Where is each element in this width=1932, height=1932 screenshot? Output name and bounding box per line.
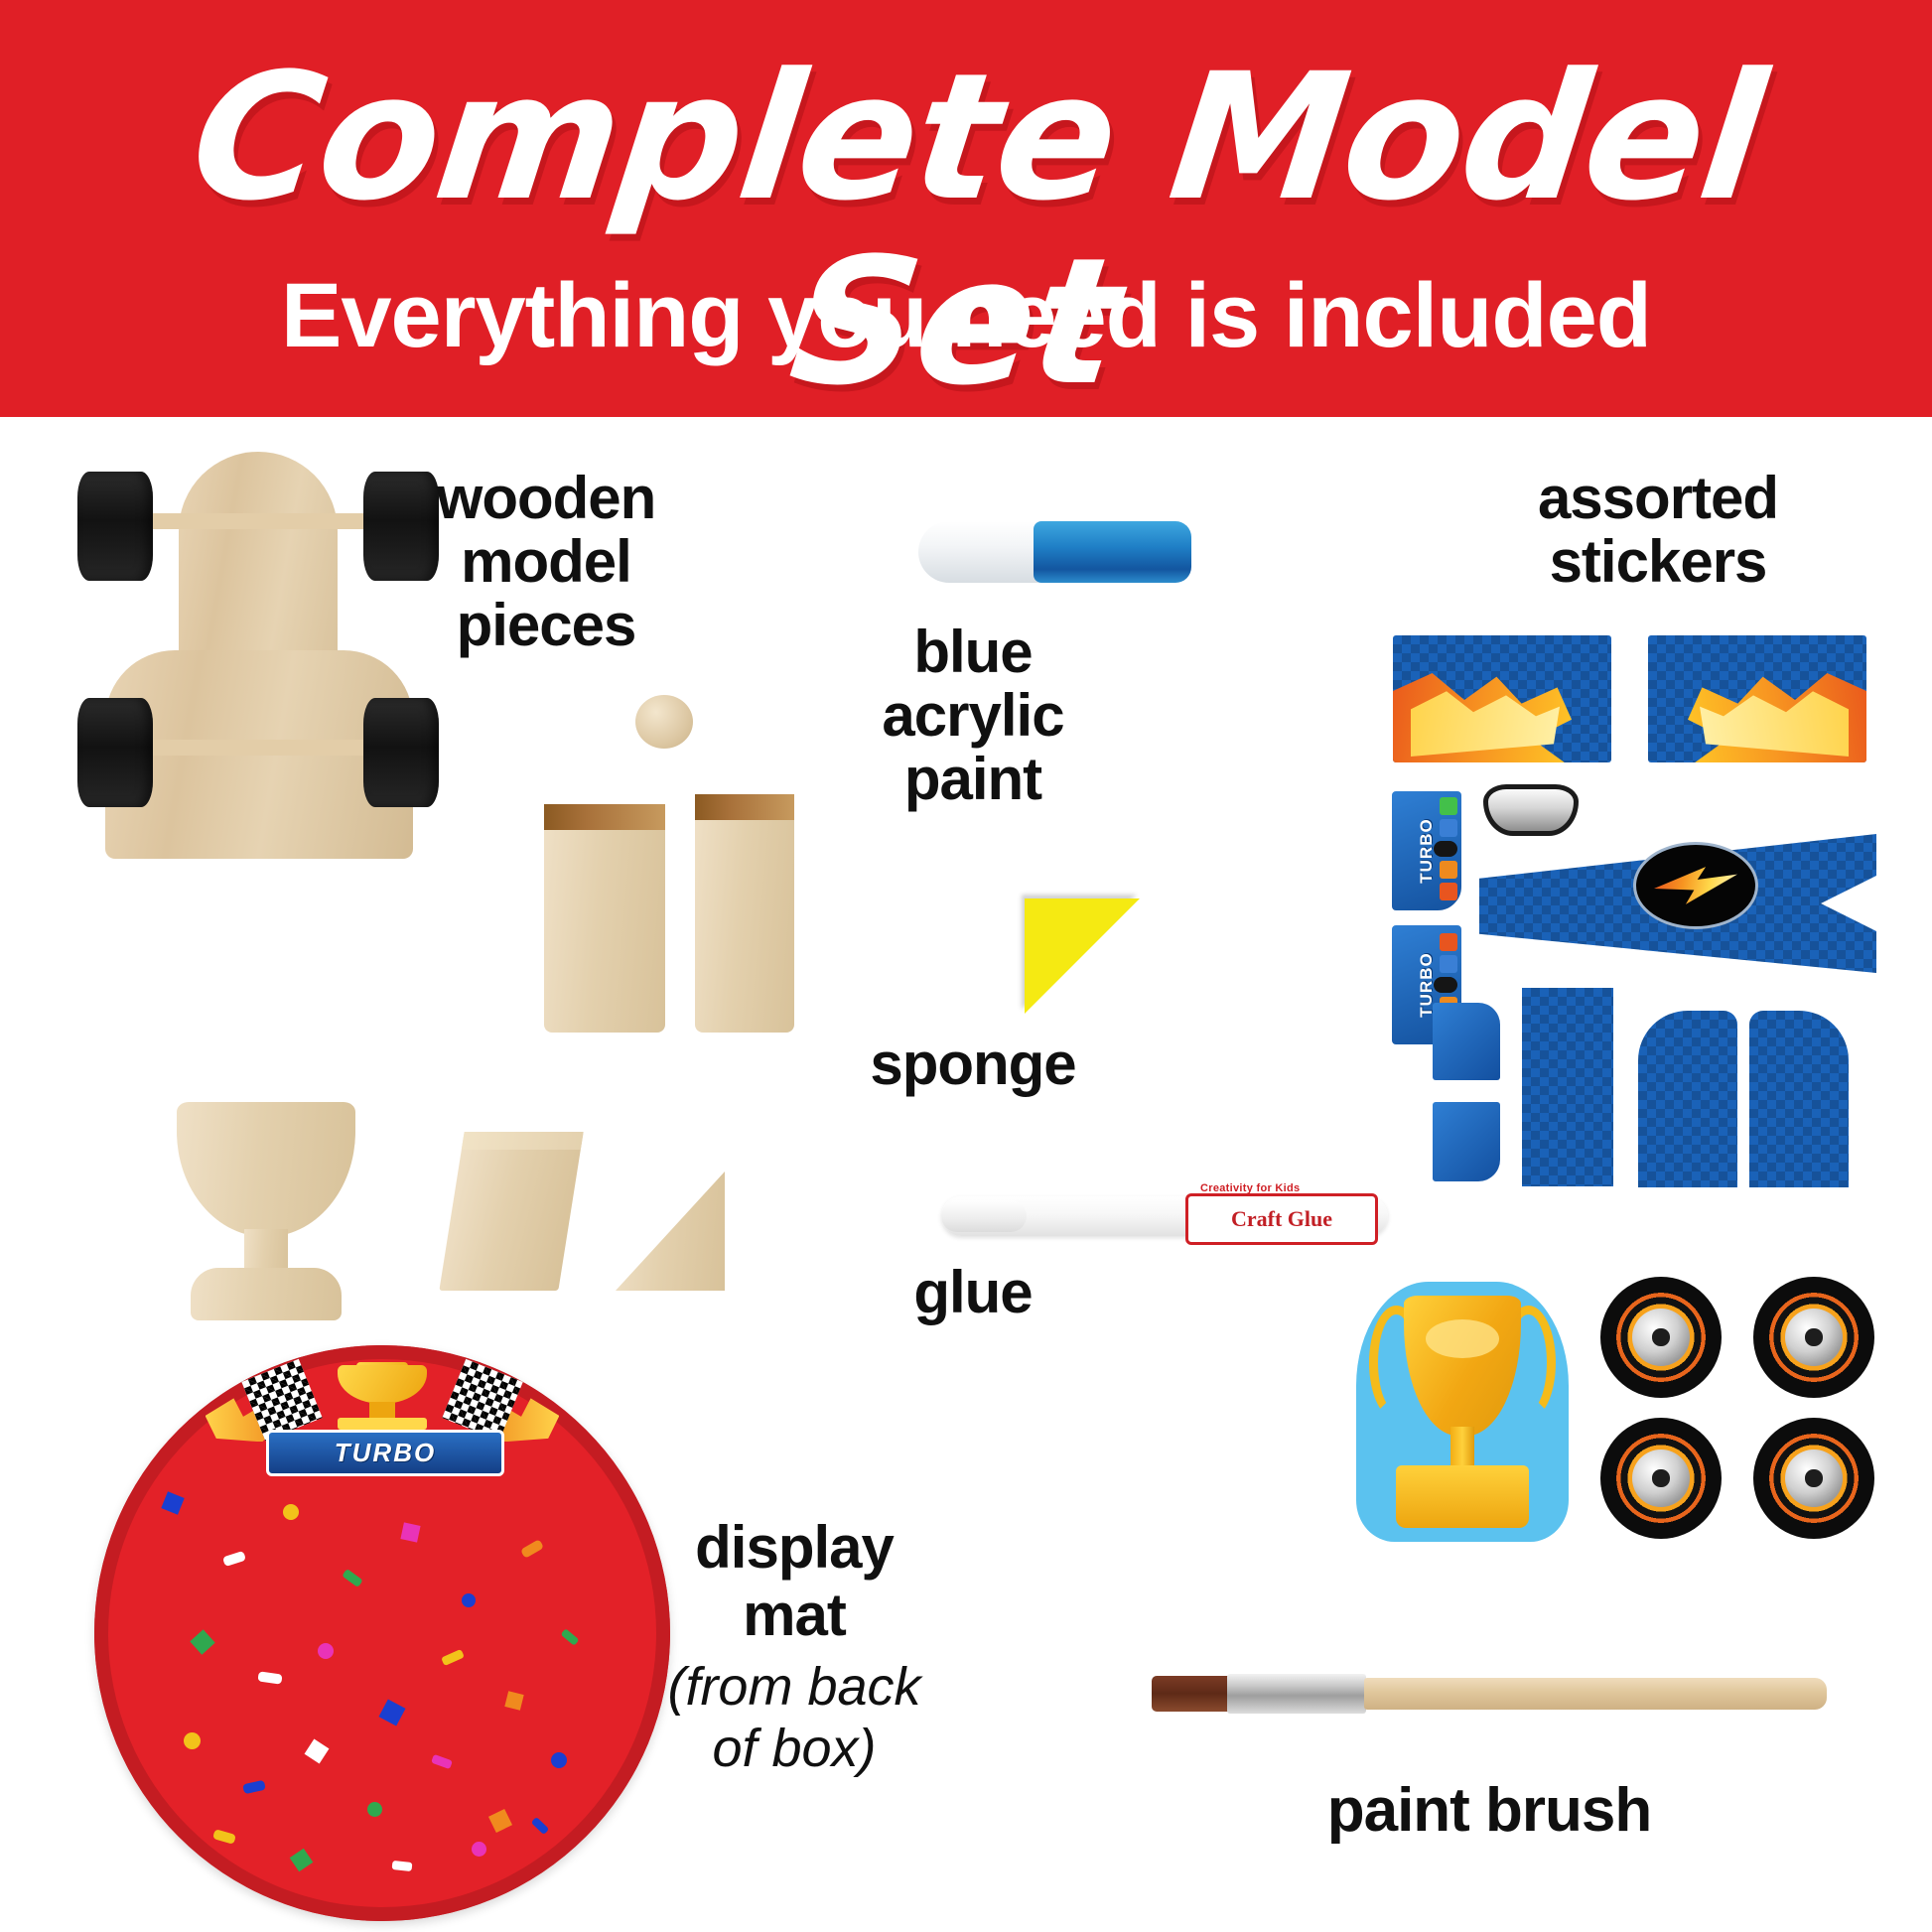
- product-infographic: Complete Model Set Everything you need i…: [0, 0, 1932, 1932]
- paint-pen-tip: [918, 521, 1044, 583]
- turbo-badge-sticker-1: TURBO: [1390, 789, 1463, 912]
- glue-brand-text: Creativity for Kids: [1200, 1182, 1300, 1194]
- label-line: blue: [824, 621, 1122, 684]
- flame-sticker-left: [1393, 635, 1611, 762]
- label-line: assorted: [1430, 467, 1886, 530]
- wheel-sticker-3: [1600, 1418, 1722, 1539]
- flame-sticker-right: [1648, 635, 1866, 762]
- glue-label: Creativity for Kids Craft Glue: [1185, 1193, 1378, 1245]
- glue-pen-nib: [941, 1200, 1027, 1232]
- brush-handle: [1364, 1678, 1827, 1710]
- label-paint-brush: paint brush: [1271, 1777, 1708, 1845]
- lightning-bolt-logo-sticker: [1633, 842, 1758, 929]
- label-line: stickers: [1430, 530, 1886, 594]
- page-subtitle: Everything you need is included: [0, 266, 1932, 365]
- wheel-sticker-4: [1753, 1418, 1874, 1539]
- trophy-sticker: [1365, 1291, 1560, 1533]
- trophy-stem: [1450, 1427, 1474, 1470]
- wheel-sticker-1: [1600, 1277, 1722, 1398]
- label-line: (from back: [556, 1656, 1033, 1718]
- lightning-bolt-icon: [1654, 867, 1737, 904]
- label-line: acrylic: [824, 684, 1122, 748]
- checkered-fender-sticker-right: [1749, 1011, 1849, 1187]
- wheel-sticker-2: [1753, 1277, 1874, 1398]
- tire-front-left: [77, 472, 153, 581]
- label-assorted-stickers: assorted stickers: [1430, 467, 1886, 594]
- mat-turbo-logo: TURBO: [221, 1362, 544, 1477]
- paint-brush: [1152, 1676, 1827, 1712]
- label-line: pieces: [387, 594, 705, 657]
- checkered-strip-sticker: [1522, 988, 1613, 1186]
- header-banner: Complete Model Set Everything you need i…: [0, 0, 1932, 417]
- paint-pen-body: [1034, 521, 1192, 583]
- checkered-fender-sticker-left: [1638, 1011, 1737, 1187]
- label-line: wooden: [387, 467, 705, 530]
- label-glue: glue: [824, 1261, 1122, 1324]
- blue-acrylic-paint-pen: [918, 521, 1191, 583]
- blue-panel-sticker-2: [1433, 1102, 1500, 1181]
- wooden-wedge-piece-2: [616, 1172, 725, 1291]
- tire-rear-right: [363, 698, 439, 807]
- brush-bristles: [1152, 1676, 1231, 1712]
- craft-glue-pen: Creativity for Kids Craft Glue: [941, 1196, 1388, 1236]
- wooden-trophy-piece: [177, 1102, 355, 1320]
- sponge-piece: [1025, 898, 1140, 1014]
- label-line: paint: [824, 748, 1122, 811]
- tire-rear-left: [77, 698, 153, 807]
- label-display-mat-note: (from back of box): [556, 1656, 1033, 1779]
- label-wooden-model-pieces: wooden model pieces: [387, 467, 705, 657]
- brush-ferrule: [1227, 1674, 1366, 1714]
- wooden-bead-piece: [635, 695, 693, 749]
- trophy-base: [1396, 1465, 1528, 1528]
- label-line: of box): [556, 1718, 1033, 1779]
- wooden-block-piece-1: [544, 804, 665, 1033]
- blue-panel-sticker-1: [1433, 1003, 1500, 1080]
- label-line: model: [387, 530, 705, 594]
- wooden-wedge-piece-1: [439, 1132, 583, 1291]
- wooden-block-piece-2: [695, 794, 794, 1033]
- mat-turbo-text: TURBO: [335, 1438, 436, 1468]
- label-sponge: sponge: [824, 1033, 1122, 1096]
- glue-product-text: Craft Glue: [1231, 1206, 1332, 1232]
- label-line: mat: [556, 1582, 1033, 1649]
- label-display-mat: display mat: [556, 1514, 1033, 1649]
- helmet-visor-sticker: [1483, 784, 1579, 836]
- label-blue-acrylic-paint: blue acrylic paint: [824, 621, 1122, 811]
- label-line: display: [556, 1514, 1033, 1582]
